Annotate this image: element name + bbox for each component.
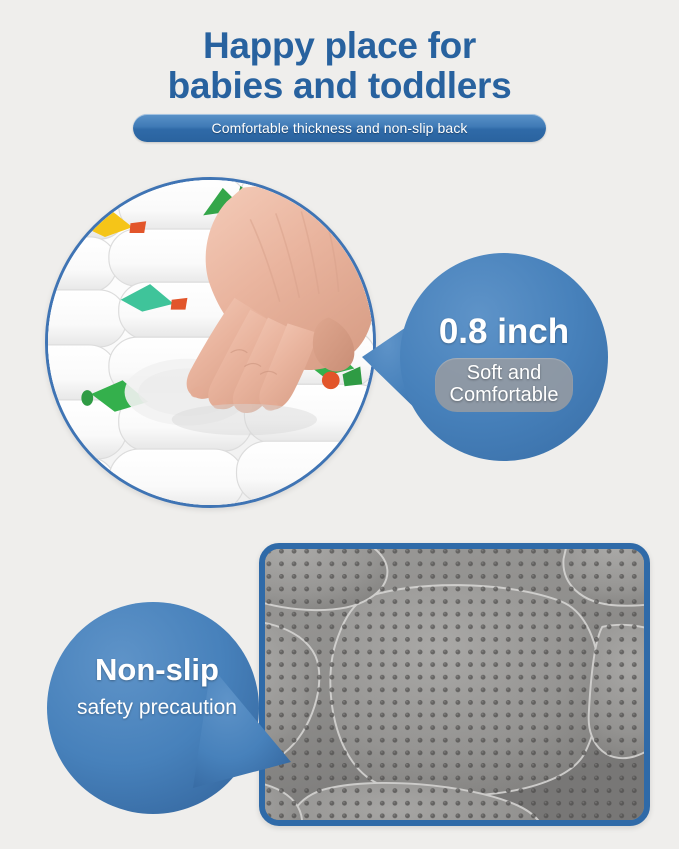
soft-pill-line-1: Soft and [450,362,559,384]
thickness-callout-content: 0.8 inch Soft and Comfortable [406,275,602,451]
soft-comfortable-pill: Soft and Comfortable [435,358,574,413]
non-slip-subtitle: safety precaution [51,696,263,719]
non-slip-callout-content: Non-slip safety precaution [51,654,263,719]
page-title: Happy place for babies and toddlers [0,26,679,106]
non-slip-callout-bubble: Non-slip safety precaution [43,602,295,817]
hand-pressing-quilted-mattress-photo [45,177,376,508]
subtitle-text: Comfortable thickness and non-slip back [211,120,467,136]
thickness-value: 0.8 inch [439,314,569,349]
page-title-line-1: Happy place for [0,26,679,66]
subtitle-banner: Comfortable thickness and non-slip back [133,114,546,142]
non-slip-title: Non-slip [51,654,263,687]
soft-pill-line-2: Comfortable [450,384,559,406]
page-title-line-2: babies and toddlers [0,66,679,106]
gray-dotted-non-slip-backing-photo [259,543,650,826]
thickness-callout-bubble: 0.8 inch Soft and Comfortable [358,253,608,471]
product-feature-infographic: Happy place for babies and toddlers Comf… [0,0,679,849]
